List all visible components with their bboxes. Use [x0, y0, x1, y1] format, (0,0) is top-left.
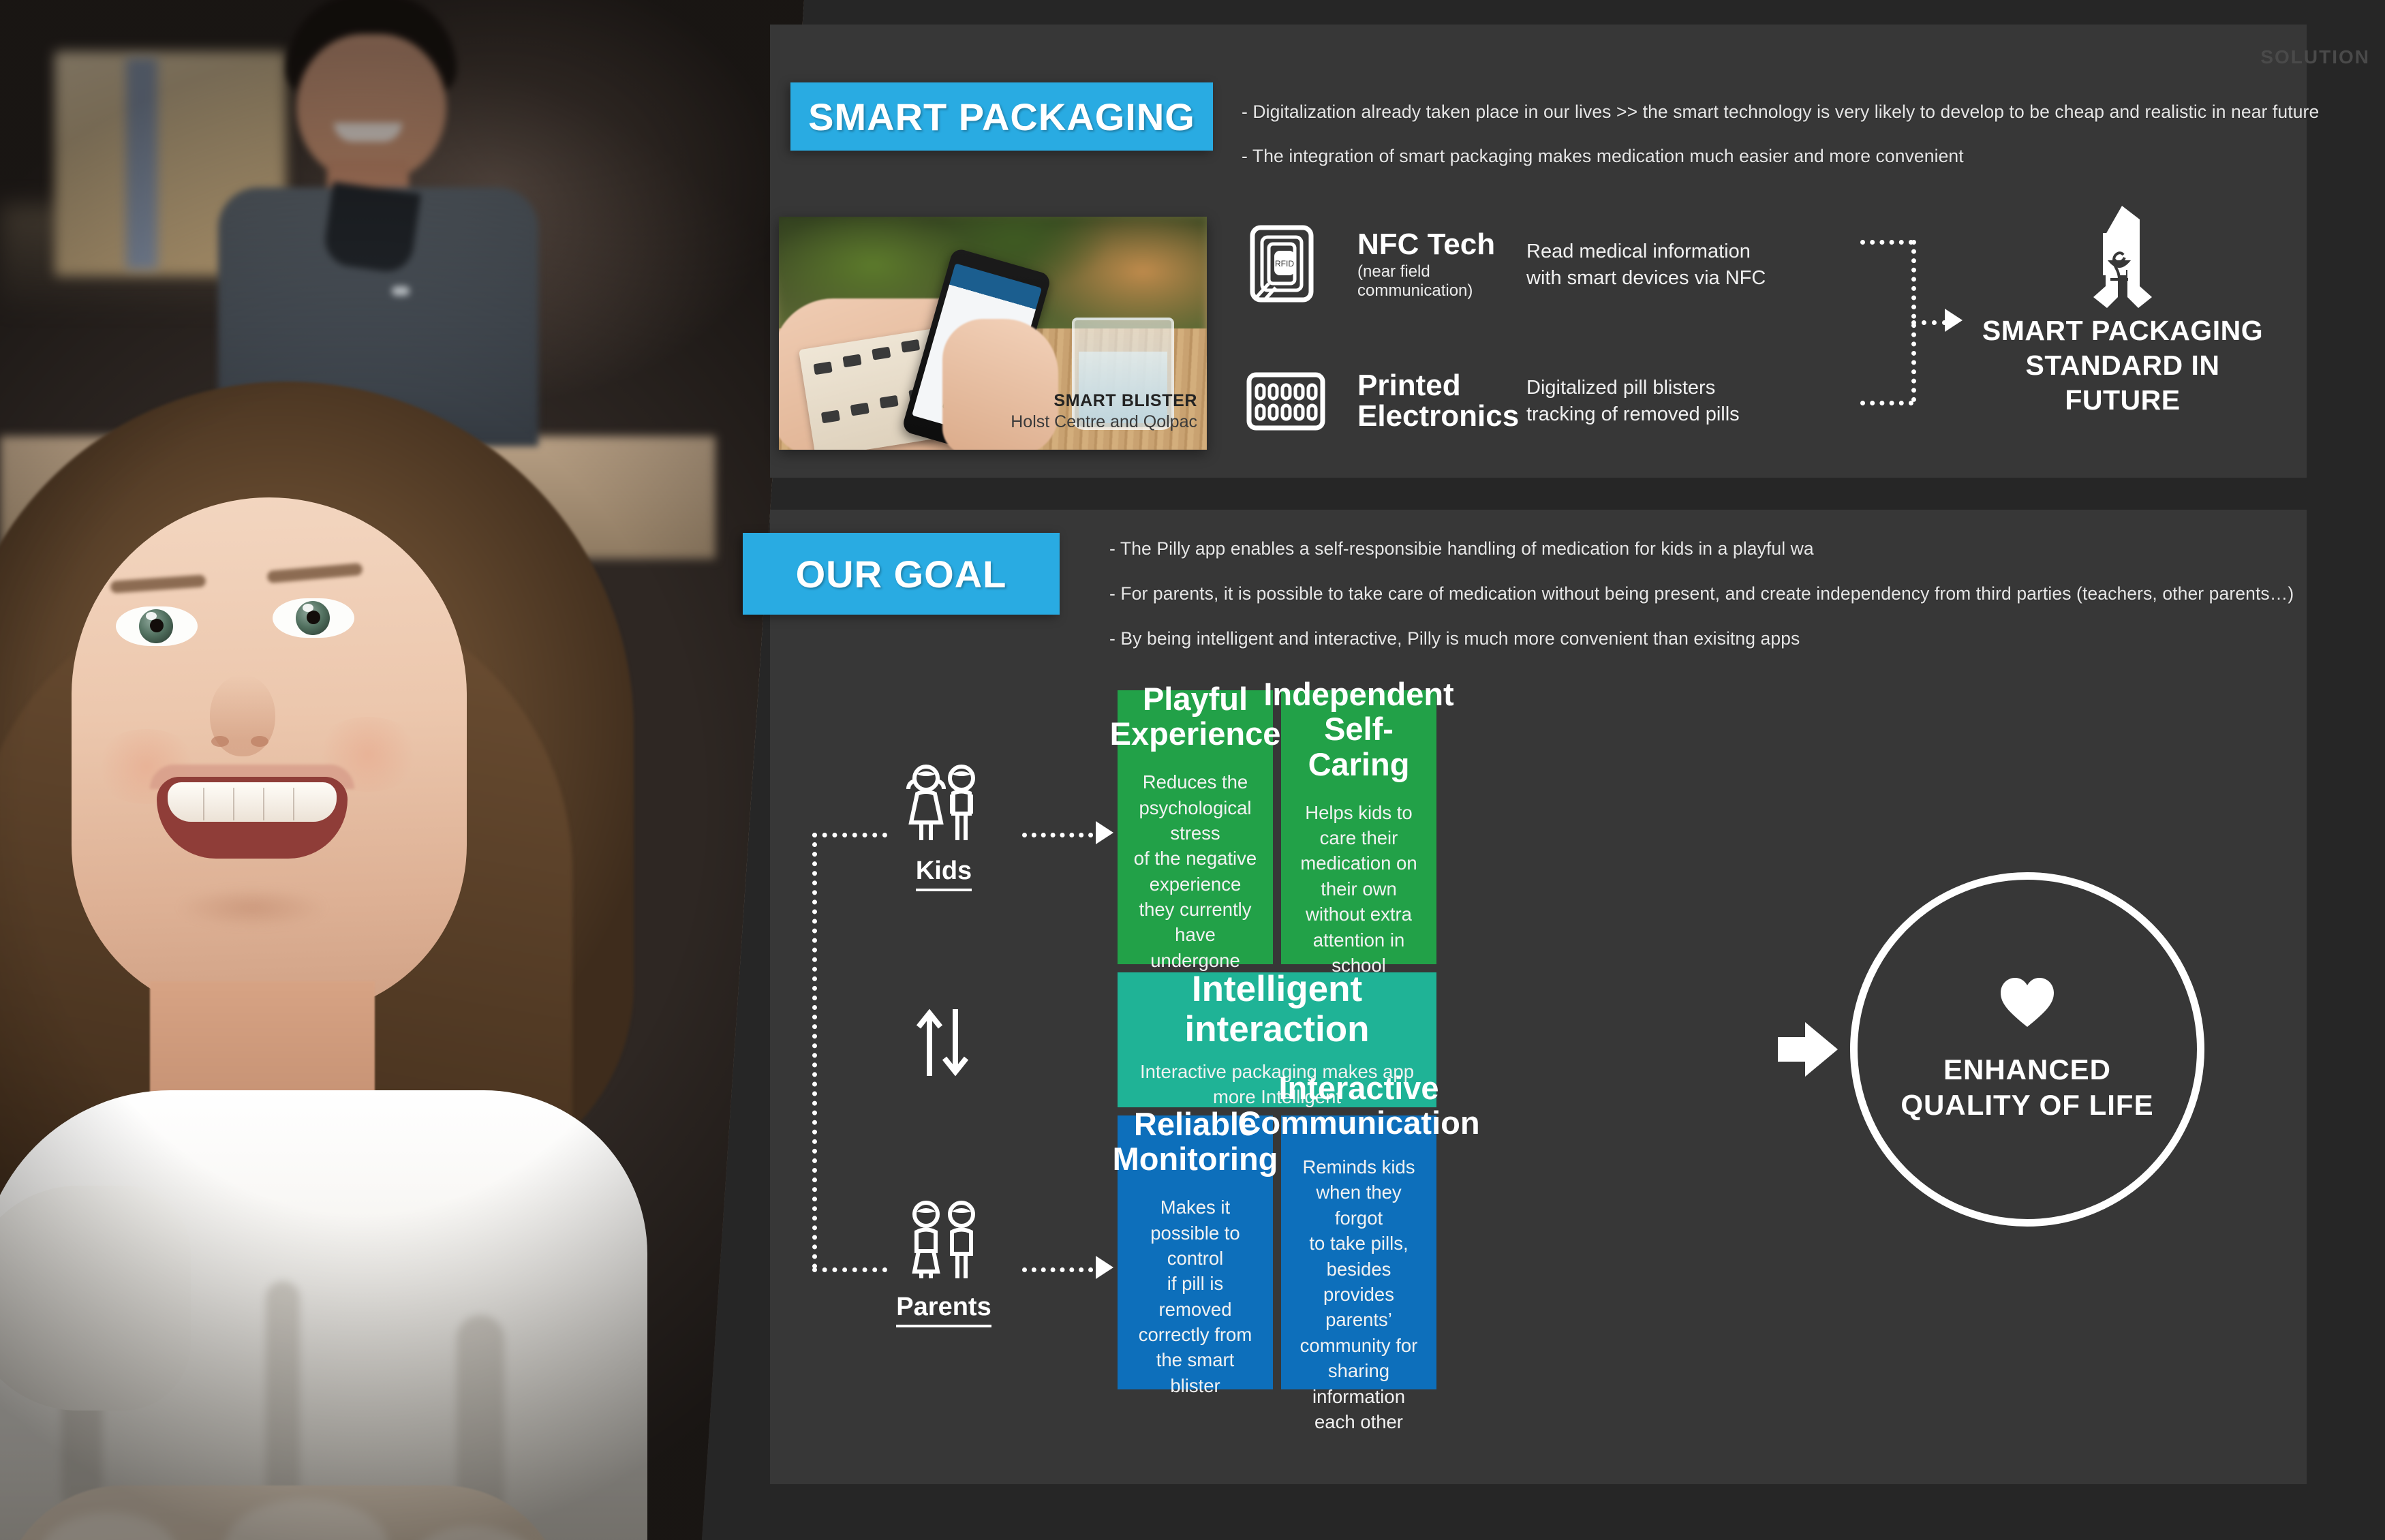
connector-dot-line-out: [1911, 320, 1947, 325]
connector-dot-line-bottom: [1860, 401, 1913, 405]
interactive-heading-line1: Interactive: [1278, 1071, 1438, 1106]
pill-blister-icon: [1246, 361, 1326, 442]
photo-vignette: [0, 0, 804, 1540]
tech-row-printed-electronics: Printed Electronics Digitalized pill bli…: [1246, 361, 1740, 442]
matrix-cell-reliable-monitoring[interactable]: Reliable Monitoring Makes it possible to…: [1118, 1115, 1273, 1389]
our-goal-tab-label: OUR GOAL: [796, 552, 1007, 596]
flow-arrow-parents-icon: [1096, 1256, 1113, 1279]
actor-kids: Kids: [855, 763, 1032, 891]
hero-photo-kid-and-father: [0, 0, 804, 1540]
matrix-cell-interactive-communication[interactable]: Interactive Communication Reminds kids w…: [1281, 1115, 1436, 1389]
independent-body-line3: without extra attention in school: [1296, 902, 1421, 978]
independent-body-line2: medication on their own: [1296, 850, 1421, 902]
enhanced-quality-of-life-badge: ENHANCED QUALITY OF LIFE: [1850, 872, 2204, 1227]
tech-row-nfc: RFID NFC Tech (near field communication)…: [1246, 225, 1766, 305]
connector-dot-line-top: [1860, 240, 1913, 245]
reliable-body-line3: the smart blister: [1133, 1347, 1258, 1398]
rfid-tag-icon: RFID: [1246, 225, 1326, 305]
goal-bullet-2: - For parents, it is possible to take ca…: [1109, 583, 2294, 605]
solution-corner-label: SOLUTION: [2260, 46, 2370, 68]
nfc-title: NFC Tech: [1357, 230, 1514, 260]
reliable-body-line2: if pill is removed correctly from: [1133, 1271, 1258, 1347]
printed-electronics-description-line2: tracking of removed pills: [1526, 401, 1740, 428]
result-line1: ENHANCED: [1943, 1052, 2111, 1087]
nfc-description-line1: Read medical information: [1526, 238, 1766, 265]
reliable-body-line1: Makes it possible to control: [1133, 1195, 1258, 1271]
future-outcome-line2: STANDARD IN FUTURE: [1980, 348, 2266, 418]
our-goal-tab[interactable]: OUR GOAL: [743, 533, 1060, 615]
our-goal-bullets: - The Pilly app enables a self-responsib…: [1109, 538, 2294, 673]
goal-bullet-1: - The Pilly app enables a self-responsib…: [1109, 538, 2294, 560]
future-outcome-line1: SMART PACKAGING: [1980, 313, 2266, 348]
smart-blister-photo: SMART BLISTER Holst Centre and Qolpac: [779, 217, 1207, 450]
playful-heading-line2: Experience: [1110, 716, 1281, 752]
actor-kids-label: Kids: [916, 857, 972, 891]
interactive-heading-line2: Communication: [1237, 1105, 1479, 1141]
independent-body-line1: Helps kids to care their: [1296, 800, 1421, 851]
independent-heading-line1: Independent: [1263, 677, 1453, 712]
goal-bullet-3: - By being intelligent and interactive, …: [1109, 628, 2294, 650]
printed-electronics-title-line2: Electronics: [1357, 401, 1514, 432]
playful-body-line3: they currently have undergone: [1133, 897, 1258, 973]
actor-parents-label: Parents: [896, 1293, 991, 1327]
actor-parents: Parents: [855, 1199, 1032, 1327]
smart-packaging-tab[interactable]: SMART PACKAGING: [790, 82, 1213, 151]
flow-dot-line-spine: [812, 833, 817, 1269]
tech-name-nfc: NFC Tech (near field communication): [1357, 230, 1514, 301]
intelligent-heading: Intelligent interaction: [1133, 970, 1421, 1049]
blister-caption-title: SMART BLISTER: [1011, 391, 1197, 411]
flow-dot-line-kids-out: [1022, 833, 1103, 837]
result-line2: QUALITY OF LIFE: [1901, 1088, 2153, 1122]
printed-electronics-title-line1: Printed: [1357, 371, 1514, 401]
slide-canvas: SOLUTION SMART PACKAGING - Digitalizatio…: [0, 0, 2385, 1540]
blister-photo-caption: SMART BLISTER Holst Centre and Qolpac: [1011, 391, 1197, 432]
interactive-body-line1: Reminds kids when they forgot: [1296, 1154, 1421, 1231]
result-arrow-icon: [1775, 1017, 1841, 1085]
tech-name-printed-electronics: Printed Electronics: [1357, 371, 1514, 432]
nfc-subtitle: (near field communication): [1357, 262, 1514, 301]
rfid-icon-text: RFID: [1275, 259, 1294, 268]
two-kids-icon: [855, 763, 1032, 847]
connector-merge-top: [1860, 240, 1949, 402]
interactive-body-line4: sharing information each other: [1296, 1358, 1421, 1434]
smart-bullet-2: - The integration of smart packaging mak…: [1242, 145, 2319, 168]
smart-bullet-1: - Digitalization already taken place in …: [1242, 101, 2319, 123]
pharmacy-logo-icon: [1980, 204, 2266, 313]
interactive-body-line2: to take pills, besides provides: [1296, 1231, 1421, 1307]
smart-packaging-tab-label: SMART PACKAGING: [808, 95, 1195, 139]
blister-caption-credit: Holst Centre and Qolpac: [1011, 412, 1197, 432]
smart-packaging-bullets: - Digitalization already taken place in …: [1242, 101, 2319, 189]
interactive-body-line3: parents’ community for: [1296, 1307, 1421, 1358]
playful-heading-line1: Playful: [1143, 681, 1248, 717]
flow-arrow-kids-icon: [1096, 821, 1113, 844]
nfc-description: Read medical information with smart devi…: [1526, 238, 1766, 292]
matrix-cell-independent-self-caring[interactable]: Independent Self-Caring Helps kids to ca…: [1281, 690, 1436, 964]
nfc-description-line2: with smart devices via NFC: [1526, 265, 1766, 292]
matrix-cell-playful-experience[interactable]: Playful Experience Reduces the psycholog…: [1118, 690, 1273, 964]
reliable-heading-line2: Monitoring: [1113, 1141, 1278, 1177]
up-down-arrows-icon: [906, 1005, 981, 1080]
independent-heading-line2: Self-Caring: [1296, 711, 1421, 782]
smart-packaging-future-outcome: SMART PACKAGING STANDARD IN FUTURE: [1980, 204, 2266, 417]
printed-electronics-description: Digitalized pill blisters tracking of re…: [1526, 375, 1740, 428]
flow-dot-line-parents-out: [1022, 1267, 1103, 1272]
two-parents-icon: [855, 1199, 1032, 1283]
playful-body-line1: Reduces the psychological stress: [1133, 769, 1258, 846]
playful-body-line2: of the negative experience: [1133, 846, 1258, 897]
printed-electronics-description-line1: Digitalized pill blisters: [1526, 375, 1740, 401]
heart-icon: [1998, 976, 2057, 1033]
connector-arrowhead-icon: [1945, 309, 1963, 332]
